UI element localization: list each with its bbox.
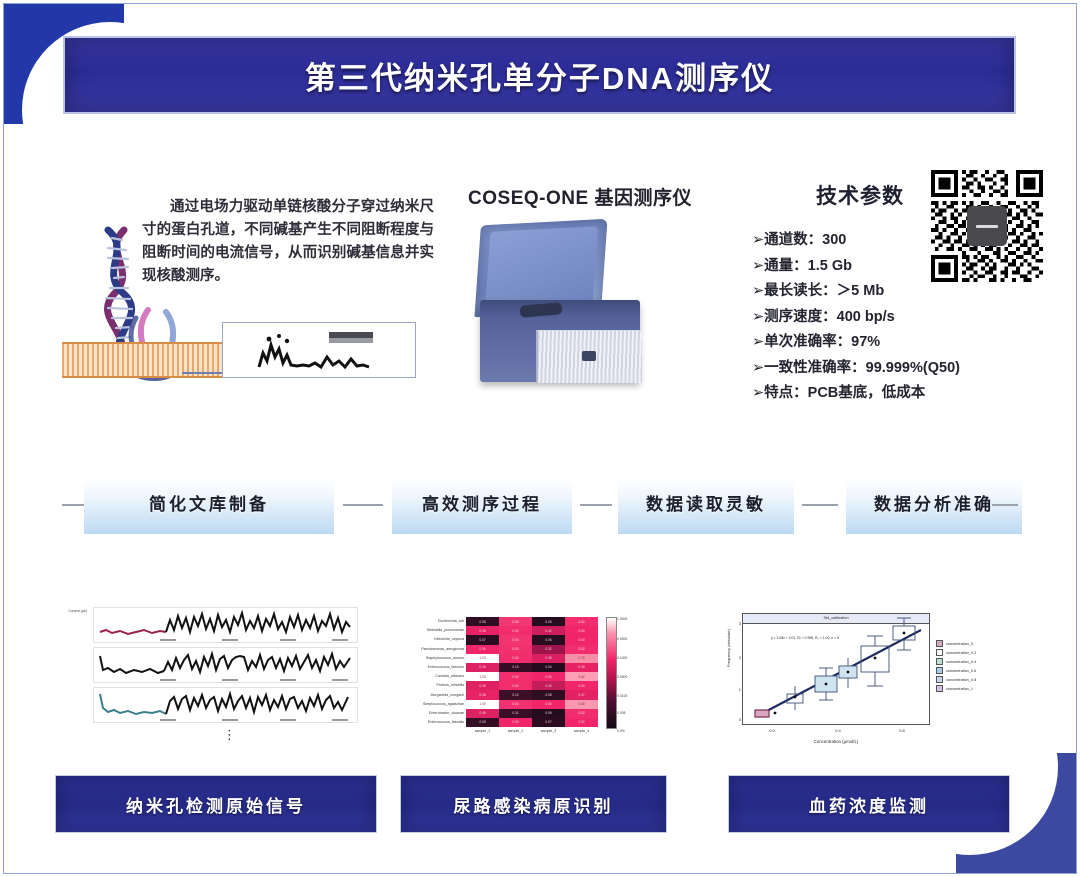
heatmap-row-label: Klebsiella_oxytoca xyxy=(402,635,464,644)
heatmap-cell: 0.42 xyxy=(532,626,565,635)
qr-center-logo-icon xyxy=(967,206,1007,246)
process-step-3[interactable]: 数据读取灵敏 xyxy=(618,478,794,534)
legend-label: concentration_0.6 xyxy=(946,669,976,673)
heatmap-cell: 0.53 xyxy=(499,645,532,654)
caption-label: 血药浓度监测 xyxy=(809,792,929,817)
heatmap-cell: 0.54 xyxy=(499,635,532,644)
heatmap-cell: 0.40 xyxy=(532,681,565,690)
intro-paragraph: 通过电场力驱动单链核酸分子穿过纳米尺寸的蛋白孔道，不同碱基产生不同阻断程度与阻断… xyxy=(142,196,434,288)
heatmap-cell: 0.46 xyxy=(466,663,499,672)
heatmap-cell: 0.50 xyxy=(466,645,499,654)
page-title: 第三代纳米孔单分子DNA测序仪 xyxy=(305,53,774,98)
colorbar-tick: 0.1000 xyxy=(617,656,627,660)
heatmap-cell: 0.08 xyxy=(532,690,565,699)
y-tick: 2 xyxy=(739,655,741,660)
heatmap-cell: 0.48 xyxy=(565,663,598,672)
caption-uti-pathogen: 尿路感染病原识别 xyxy=(400,775,667,833)
heatmap-cell: 0.52 xyxy=(565,709,598,718)
caption-label: 纳米孔检测原始信号 xyxy=(126,792,306,817)
y-tick: 0 xyxy=(739,717,741,722)
legend-swatch-icon xyxy=(936,685,943,692)
trace-panel-2 xyxy=(93,647,358,683)
spec-item: ➢一致性准确率：99.999%(Q50) xyxy=(752,356,992,382)
heatmap-row-label: Staphylococcus_aureus xyxy=(402,654,464,663)
legend-item[interactable]: concentration_0.6 xyxy=(936,666,1006,675)
spec-item: ➢单次准确率：97% xyxy=(752,330,992,356)
legend-swatch-icon xyxy=(936,667,943,674)
heatmap-cell: 0.06 xyxy=(532,635,565,644)
heatmap-cell: 0.82 xyxy=(565,672,598,681)
spec-item: ➢特点：PCB基底，低成本 xyxy=(752,381,992,407)
device-body xyxy=(480,300,640,382)
heatmap-cell: 0.04 xyxy=(532,663,565,672)
x-tick: 0.4 xyxy=(835,728,841,733)
heatmap-cell: 0.50 xyxy=(499,718,532,727)
heatmap-cell: 0.32 xyxy=(532,645,565,654)
trace-continuation-dots: ⋮ xyxy=(223,732,236,737)
heatmap-grid: 0.080.550.050.520.480.520.420.500.070.54… xyxy=(466,617,598,727)
heatmap-cell: 0.46 xyxy=(466,709,499,718)
scatter-plot-frame: Std_calibration xyxy=(742,613,930,725)
scatter-legend: concentration_0 concentration_0.2 concen… xyxy=(936,639,1006,693)
heatmap-col-label: sample_1 xyxy=(466,729,499,733)
heatmap-row-label: Proteus_mirabilis xyxy=(402,681,464,690)
heatmap-cell: 0.08 xyxy=(466,617,499,626)
device-front-panel xyxy=(536,330,642,383)
legend-swatch-icon xyxy=(936,640,943,647)
heatmap-cell: 0.78 xyxy=(565,654,598,663)
legend-item[interactable]: concentration_0.8 xyxy=(936,675,1006,684)
chart-pathogen-heatmap: Escherichia_coli Klebsiella_pneumoniae K… xyxy=(400,605,665,755)
heatmap-cell: 0.52 xyxy=(499,626,532,635)
heatmap-cell: 0.09 xyxy=(466,718,499,727)
legend-label: concentration_0.4 xyxy=(946,660,976,664)
colorbar-tick: 0.005 xyxy=(617,711,626,715)
step-connector xyxy=(343,504,383,506)
heatmap-cell: 0.80 xyxy=(565,700,598,709)
process-step-4[interactable]: 数据分析准确 xyxy=(846,478,1022,534)
scatter-x-axis-label: Concentration (μmol/L) xyxy=(742,739,930,744)
x-tick: 0.8 xyxy=(899,728,905,733)
legend-label: concentration_1 xyxy=(946,687,973,691)
heatmap-cell: 0.52 xyxy=(565,645,598,654)
spec-item: ➢测序速度：400 bp/s xyxy=(752,305,992,331)
y-tick: 1 xyxy=(739,687,741,692)
heatmap-cell: 0.52 xyxy=(499,672,532,681)
heatmap-column-labels: sample_1 sample_2 sample_3 sample_4 xyxy=(466,729,598,733)
colorbar-tick: 0.0% xyxy=(617,729,625,733)
process-step-label: 简化文库制备 xyxy=(149,490,269,515)
legend-item[interactable]: concentration_0.2 xyxy=(936,648,1006,657)
legend-label: concentration_0.2 xyxy=(946,651,976,655)
legend-item[interactable]: concentration_1 xyxy=(936,684,1006,693)
caption-label: 尿路感染病原识别 xyxy=(454,792,614,817)
heatmap-col-label: sample_4 xyxy=(565,729,598,733)
heatmap-cell: 0.47 xyxy=(565,690,598,699)
heatmap-row-label: Morganella_morganii xyxy=(402,691,464,700)
heatmap-cell: 0.48 xyxy=(466,626,499,635)
heatmap-cell: 1.00 xyxy=(466,672,499,681)
heatmap-col-label: sample_3 xyxy=(532,729,565,733)
heatmap-cell: 0.10 xyxy=(499,663,532,672)
process-steps: 简化文库制备 高效测序过程 数据读取灵敏 数据分析准确 xyxy=(62,478,1017,540)
step-connector xyxy=(580,504,612,506)
heatmap-row-label: Candida_albicans xyxy=(402,672,464,681)
legend-swatch-icon xyxy=(936,676,943,683)
heatmap-cell: 0.50 xyxy=(565,626,598,635)
y-tick: 3 xyxy=(739,621,741,626)
trace-axis-label: Current (pA) xyxy=(61,609,87,643)
heatmap-cell: 0.46 xyxy=(466,681,499,690)
spec-item: ➢最长读长：＞5 Mb xyxy=(752,279,992,305)
x-tick: 0.0 xyxy=(769,728,775,733)
heatmap-cell: 0.12 xyxy=(499,690,532,699)
illustration-connector-line xyxy=(182,372,224,374)
device-handle xyxy=(520,302,563,318)
legend-label: concentration_0.8 xyxy=(946,678,976,682)
colorbar-tick: 0.5000 xyxy=(617,637,627,641)
heatmap-cell: 0.45 xyxy=(532,654,565,663)
caption-blood-concentration: 血药浓度监测 xyxy=(728,775,1010,833)
heatmap-cell: 0.48 xyxy=(466,690,499,699)
scatter-annotation: y = 3.08x + 0.01, R² = 0.998, R₀ = 1.00,… xyxy=(771,636,839,640)
heatmap-cell: 1.00 xyxy=(466,700,499,709)
legend-swatch-icon xyxy=(936,649,943,656)
heatmap-cell: 0.07 xyxy=(466,635,499,644)
heatmap-cell: 0.52 xyxy=(565,617,598,626)
heatmap-cell: 0.50 xyxy=(532,700,565,709)
heatmap-row-label: Enterococcus_faecium xyxy=(402,663,464,672)
signal-thumbnail-label xyxy=(329,332,373,343)
heatmap-cell: 0.50 xyxy=(565,635,598,644)
heatmap-cell: 0.50 xyxy=(565,718,598,727)
step-connector xyxy=(802,504,838,506)
heatmap-row-label: Escherichia_coli xyxy=(402,617,464,626)
heatmap-row-label: Streptococcus_agalactiae xyxy=(402,700,464,709)
process-step-label: 高效测序过程 xyxy=(422,490,542,515)
heatmap-cell: 0.05 xyxy=(532,709,565,718)
step-connector xyxy=(62,504,84,506)
device-title: COSEQ-ONE 基因测序仪 xyxy=(440,183,720,210)
heatmap-row-label: Enterococcus_faecalis xyxy=(402,718,464,727)
heatmap-cell: 0.50 xyxy=(565,681,598,690)
caption-nanopore-signal: 纳米孔检测原始信号 xyxy=(55,775,377,833)
legend-item[interactable]: concentration_0 xyxy=(936,639,1006,648)
heatmap-cell: 0.52 xyxy=(499,681,532,690)
qr-code-icon[interactable] xyxy=(931,170,1043,282)
process-step-label: 数据分析准确 xyxy=(874,490,994,515)
colorbar-tick: 0.0100 xyxy=(617,694,627,698)
heatmap-col-label: sample_2 xyxy=(499,729,532,733)
heatmap-cell: 0.52 xyxy=(499,654,532,663)
heatmap-cell: 0.53 xyxy=(499,700,532,709)
chart-nanopore-signal: Current (pA) xyxy=(55,605,375,755)
device-port xyxy=(582,351,596,361)
signal-trace-thumbnail xyxy=(222,322,416,378)
colorbar-tick: 1.0000 xyxy=(617,617,627,621)
heatmap-row-labels: Escherichia_coli Klebsiella_pneumoniae K… xyxy=(402,617,464,727)
heatmap-row-label: Klebsiella_pneumoniae xyxy=(402,626,464,635)
sequencer-device-image xyxy=(474,222,660,400)
scatter-x-ticks: 0.0 0.4 0.8 xyxy=(742,728,930,736)
heatmap-cell: 0.07 xyxy=(532,718,565,727)
trace-panel-3 xyxy=(93,687,358,723)
step-connector xyxy=(992,504,1018,506)
heatmap-cell: 0.05 xyxy=(532,617,565,626)
heatmap-cell: 0.55 xyxy=(499,617,532,626)
heatmap-cell: 1.00 xyxy=(466,654,499,663)
legend-swatch-icon xyxy=(936,658,943,665)
chart-blood-concentration: Std_calibration xyxy=(728,605,1008,755)
poster-title-banner: 第三代纳米孔单分子DNA测序仪 xyxy=(63,36,1016,114)
heatmap-row-label: Enterobacter_cloacae xyxy=(402,709,464,718)
legend-label: concentration_0 xyxy=(946,642,973,646)
process-step-1[interactable]: 简化文库制备 xyxy=(84,478,334,534)
process-step-2[interactable]: 高效测序过程 xyxy=(392,478,572,534)
legend-item[interactable]: concentration_0.4 xyxy=(936,657,1006,666)
heatmap-colorbar-ticks: 1.0000 0.5000 0.1000 0.0500 0.0100 0.005… xyxy=(617,613,657,731)
trace-panel-1 xyxy=(93,607,358,643)
heatmap-cell: 0.50 xyxy=(532,672,565,681)
colorbar-tick: 0.0500 xyxy=(617,675,627,679)
heatmap-row-label: Pseudomonas_aeruginosa xyxy=(402,645,464,654)
heatmap-cell: 0.11 xyxy=(499,709,532,718)
specs-title: 技术参数 xyxy=(760,180,960,210)
heatmap-colorbar xyxy=(606,617,617,729)
scatter-y-axis-label: Frequency (absolute) xyxy=(726,629,731,667)
poster-root: 第三代纳米孔单分子DNA测序仪 通过电场力驱动单链核酸分子穿过纳米尺寸的蛋白孔道… xyxy=(0,0,1080,877)
process-step-label: 数据读取灵敏 xyxy=(646,490,766,515)
